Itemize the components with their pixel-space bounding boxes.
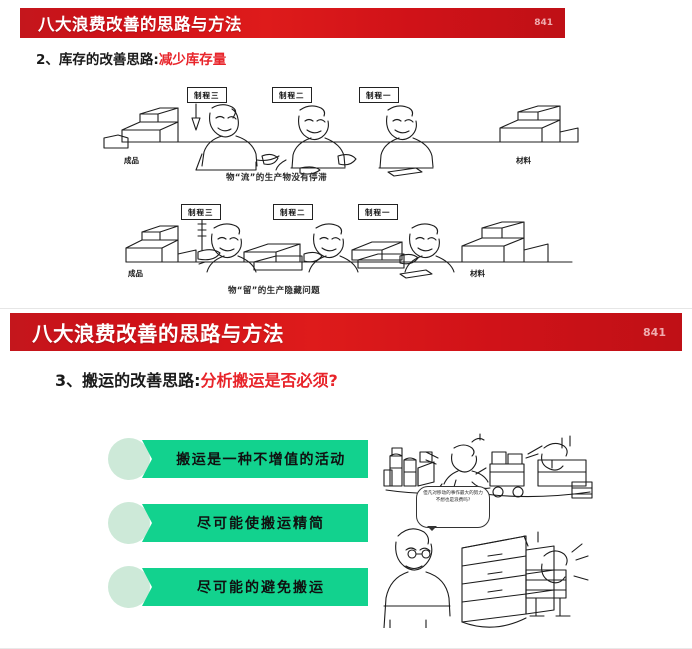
figure-material-handling-cartoon: 但凡对移动的事作最大的努力不想也是浪费吗? [376,424,602,628]
slide-2-subtitle: 3、搬运的改善思路:分析搬运是否必须? [55,367,338,391]
point-label-3: 尽可能的避免搬运 [185,577,325,597]
figure-stagnation-hides-problems: 制程三 制程二 制程一 [0,0,692,306]
figure-stagnation-sketch [0,196,692,296]
slide-2-subtitle-text: 搬运的改善思路: [82,371,200,390]
slide-2-header-bar: 八大浪费改善的思路与方法 841 [10,313,682,351]
point-bar-1: 搬运是一种不增值的活动 [142,440,368,478]
point-bar-2: 尽可能使搬运精简 [142,504,368,542]
slide-1: 八大浪费改善的思路与方法 841 2、库存的改善思路:减少库存量 制程三 制程二… [0,0,692,306]
slide-2-subtitle-accent: 分析搬运是否必须? [201,371,338,390]
point-label-1: 搬运是一种不增值的活动 [164,449,345,469]
point-bar-3: 尽可能的避免搬运 [142,568,368,606]
bullet-circle-1 [108,438,150,480]
bullet-circle-2 [108,502,150,544]
speech-bubble: 但凡对移动的事作最大的努力不想也是浪费吗? [416,486,490,528]
label-raw-material-bottom: 材料 [470,268,485,279]
slide-2-subtitle-index: 3、 [55,371,82,390]
bullet-circle-3 [108,566,150,608]
label-finished-goods-bottom: 成品 [128,268,143,279]
slides-page: 八大浪费改善的思路与方法 841 2、库存的改善思路:减少库存量 制程三 制程二… [0,0,692,647]
slide-2-page-number: 841 [643,326,666,339]
point-label-2: 尽可能使搬运精简 [185,513,325,533]
caption-stagnation-hides-problems: 物“留”的生产隐藏问题 [228,284,320,296]
cartoon-sketch [376,424,602,628]
slide-2-title: 八大浪费改善的思路与方法 [32,317,284,347]
